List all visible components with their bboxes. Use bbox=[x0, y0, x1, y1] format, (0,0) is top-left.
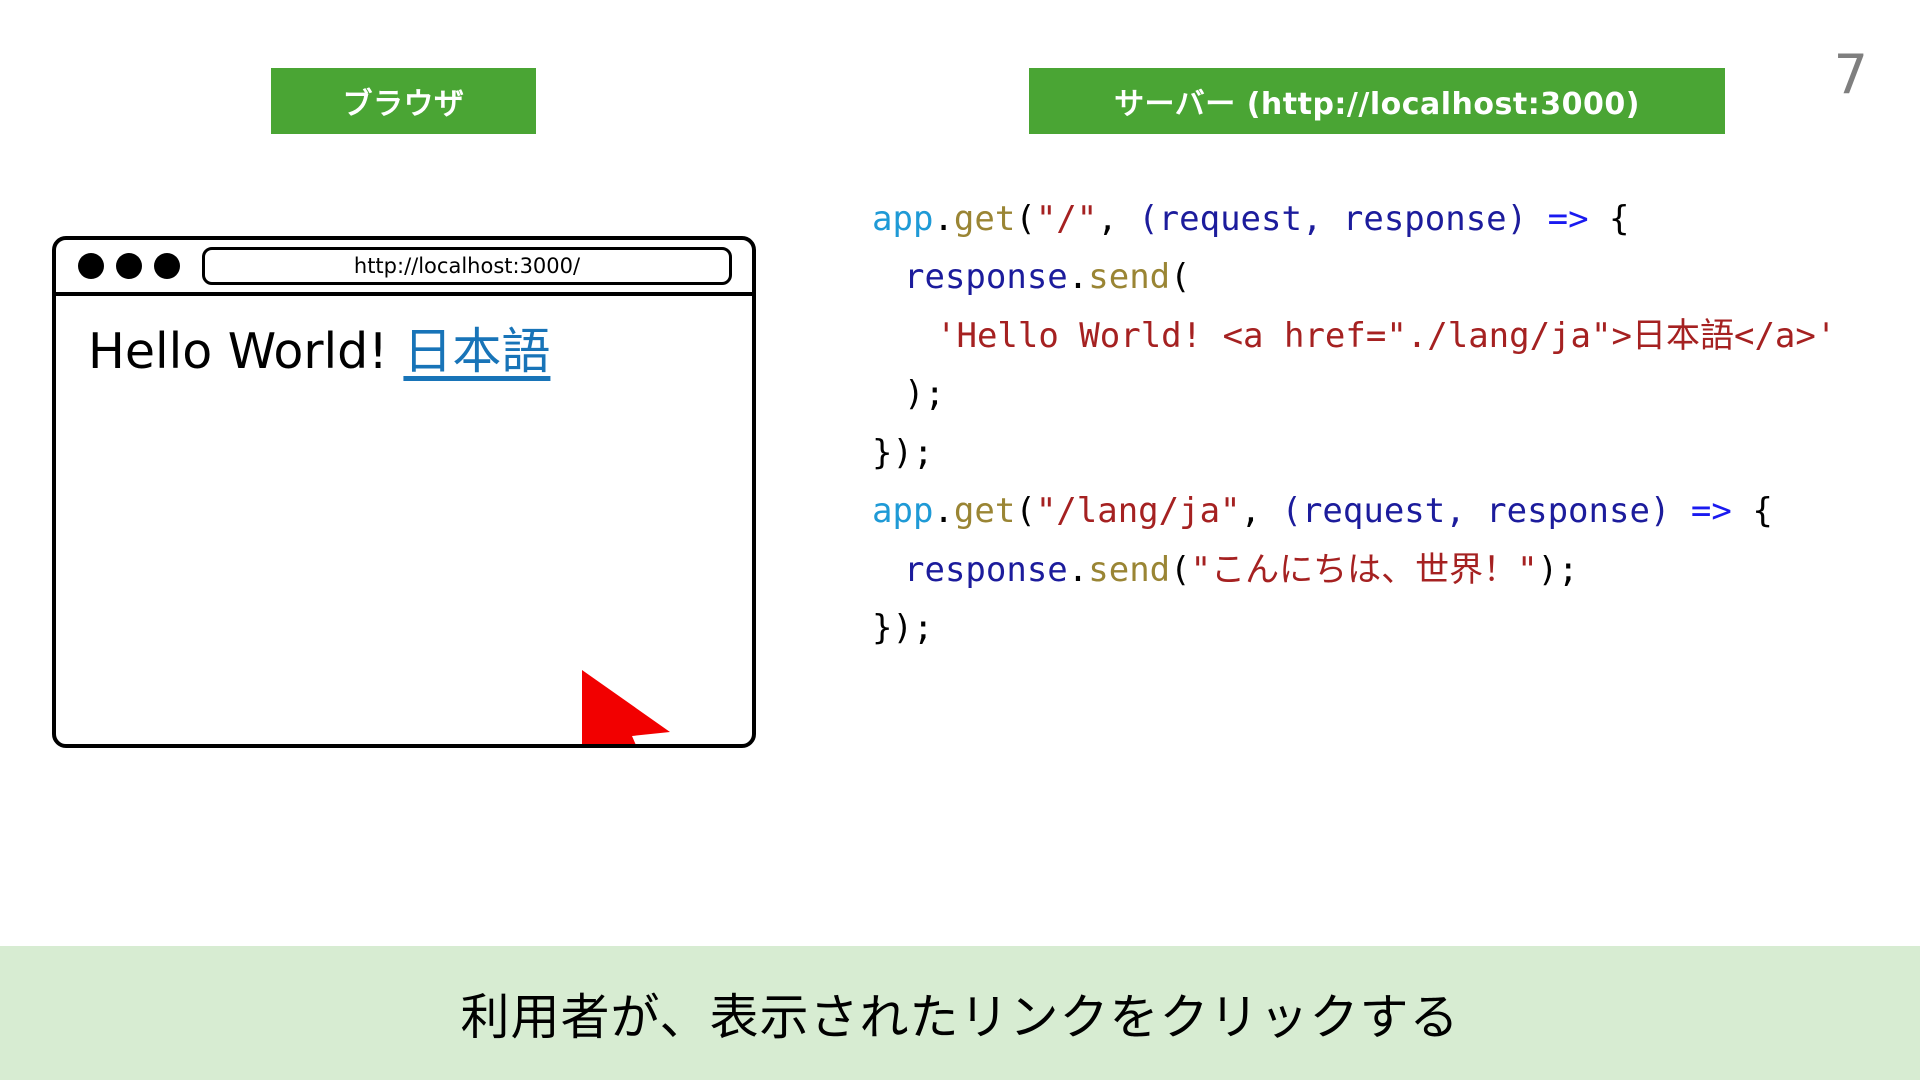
code-line: response.send( bbox=[872, 248, 1836, 306]
browser-chrome: http://localhost:3000/ bbox=[56, 240, 752, 296]
close-dot-icon[interactable] bbox=[78, 253, 104, 279]
code-token: { bbox=[1732, 491, 1773, 531]
code-token: . bbox=[1068, 257, 1088, 297]
server-code-block: app.get("/", (request, response) => {res… bbox=[872, 190, 1836, 658]
code-token: (request, response) bbox=[1281, 491, 1670, 531]
code-token: response bbox=[904, 257, 1068, 297]
code-token: app bbox=[872, 199, 933, 239]
code-token: ( bbox=[1015, 199, 1035, 239]
browser-viewport: Hello World! 日本語 bbox=[56, 296, 752, 744]
browser-url-text: http://localhost:3000/ bbox=[354, 254, 580, 278]
code-token: . bbox=[933, 199, 953, 239]
code-token: app bbox=[872, 491, 933, 531]
code-line: 'Hello World! <a href="./lang/ja">日本語</a… bbox=[872, 307, 1836, 365]
code-token: . bbox=[933, 491, 953, 531]
code-token: ); bbox=[1538, 550, 1579, 590]
browser-window-controls bbox=[78, 253, 180, 279]
code-token: response bbox=[904, 550, 1068, 590]
code-line: app.get("/", (request, response) => { bbox=[872, 190, 1836, 248]
code-token: "こんにちは、世界！" bbox=[1191, 550, 1538, 590]
browser-window-mockup: http://localhost:3000/ Hello World! 日本語 bbox=[52, 236, 756, 748]
browser-address-bar[interactable]: http://localhost:3000/ bbox=[202, 247, 732, 285]
code-token: ); bbox=[904, 374, 945, 414]
code-token: get bbox=[954, 491, 1015, 531]
code-token: "/" bbox=[1036, 199, 1097, 239]
page-text-prefix: Hello World! bbox=[88, 323, 403, 380]
code-token: ( bbox=[1170, 550, 1190, 590]
browser-column-banner: ブラウザ bbox=[271, 68, 536, 134]
caption-text: 利用者が、表示されたリンクをクリックする bbox=[460, 978, 1459, 1049]
maximize-dot-icon[interactable] bbox=[154, 253, 180, 279]
arrow-cursor-icon bbox=[576, 666, 696, 748]
code-line: ); bbox=[872, 365, 1836, 423]
code-token: . bbox=[1068, 550, 1088, 590]
code-line: }); bbox=[872, 424, 1836, 482]
code-token: get bbox=[954, 199, 1015, 239]
rendered-page-text: Hello World! 日本語 bbox=[88, 324, 752, 380]
code-token: }); bbox=[872, 433, 933, 473]
server-column-banner-label: サーバー (http://localhost:3000) bbox=[1114, 79, 1640, 123]
page-link-japanese[interactable]: 日本語 bbox=[403, 323, 550, 380]
code-token: send bbox=[1088, 257, 1170, 297]
code-token bbox=[1527, 199, 1547, 239]
minimize-dot-icon[interactable] bbox=[116, 253, 142, 279]
code-line: }); bbox=[872, 599, 1836, 657]
code-token: 'Hello World! <a href="./lang/ja">日本語</a… bbox=[936, 316, 1836, 356]
code-token: , bbox=[1097, 199, 1138, 239]
code-token: ( bbox=[1170, 257, 1190, 297]
code-token: ( bbox=[1015, 491, 1035, 531]
code-line: app.get("/lang/ja", (request, response) … bbox=[872, 482, 1836, 540]
code-token: => bbox=[1691, 491, 1732, 531]
code-token: }); bbox=[872, 608, 933, 648]
code-token: { bbox=[1589, 199, 1630, 239]
code-token bbox=[1670, 491, 1690, 531]
server-column-banner: サーバー (http://localhost:3000) bbox=[1029, 68, 1725, 134]
slide-number: 7 bbox=[1834, 48, 1868, 102]
code-token: , bbox=[1241, 491, 1282, 531]
caption-band: 利用者が、表示されたリンクをクリックする bbox=[0, 946, 1920, 1080]
code-token: "/lang/ja" bbox=[1036, 491, 1241, 531]
code-token: send bbox=[1088, 550, 1170, 590]
browser-column-banner-label: ブラウザ bbox=[343, 79, 465, 123]
code-token: (request, response) bbox=[1138, 199, 1527, 239]
code-line: response.send("こんにちは、世界！"); bbox=[872, 541, 1836, 599]
code-token: => bbox=[1548, 199, 1589, 239]
